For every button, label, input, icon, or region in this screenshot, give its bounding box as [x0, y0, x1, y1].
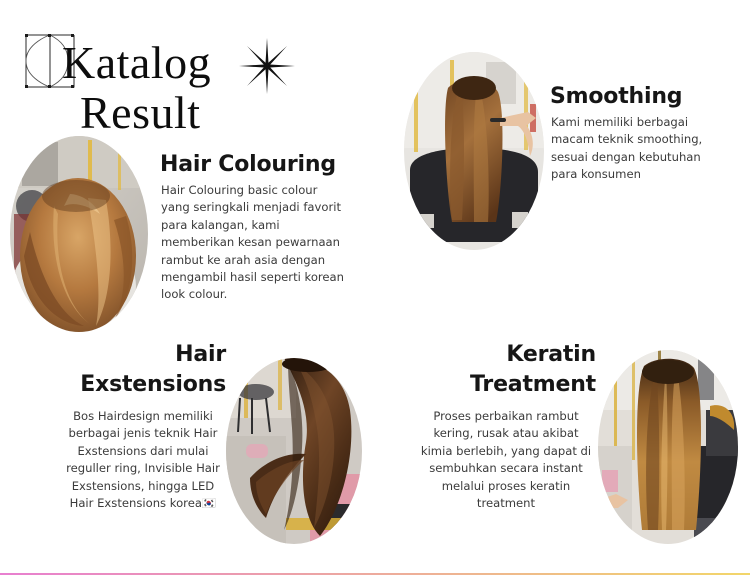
keratin-treatment-photo [598, 350, 738, 544]
eight-point-sparkle-icon [238, 37, 296, 95]
section-heading-hair-colouring: Hair Colouring [160, 152, 336, 178]
catalog-page: Katalog Result [0, 0, 750, 580]
smoothing-photo [404, 52, 544, 250]
hair-colouring-photo [10, 136, 148, 332]
section-body-smoothing: Kami memiliki berbagai macam teknik smoo… [551, 114, 723, 184]
section-smoothing: Smoothing Kami memiliki berbagai macam t… [398, 46, 750, 266]
bottom-gradient-rule [0, 573, 750, 575]
section-hair-exstensions: Hair Exstensions Bos Hairdesign memiliki… [40, 336, 380, 556]
page-header: Katalog Result [0, 0, 400, 150]
section-body-keratin-treatment: Proses perbaikan rambut kering, rusak at… [416, 408, 596, 512]
section-heading-smoothing: Smoothing [550, 84, 682, 110]
section-body-hair-exstensions: Bos Hairdesign memiliki berbagai jenis t… [60, 408, 226, 512]
section-body-hair-colouring: Hair Colouring basic colour yang seringk… [161, 182, 347, 304]
section-keratin-treatment: Keratin Treatment Proses perbaikan rambu… [398, 336, 750, 556]
hair-exstensions-photo [226, 358, 362, 544]
section-heading-keratin-treatment: Keratin Treatment [408, 340, 596, 400]
section-hair-colouring: Hair Colouring Hair Colouring basic colo… [0, 130, 360, 350]
section-heading-hair-exstensions: Hair Exstensions [40, 340, 226, 400]
